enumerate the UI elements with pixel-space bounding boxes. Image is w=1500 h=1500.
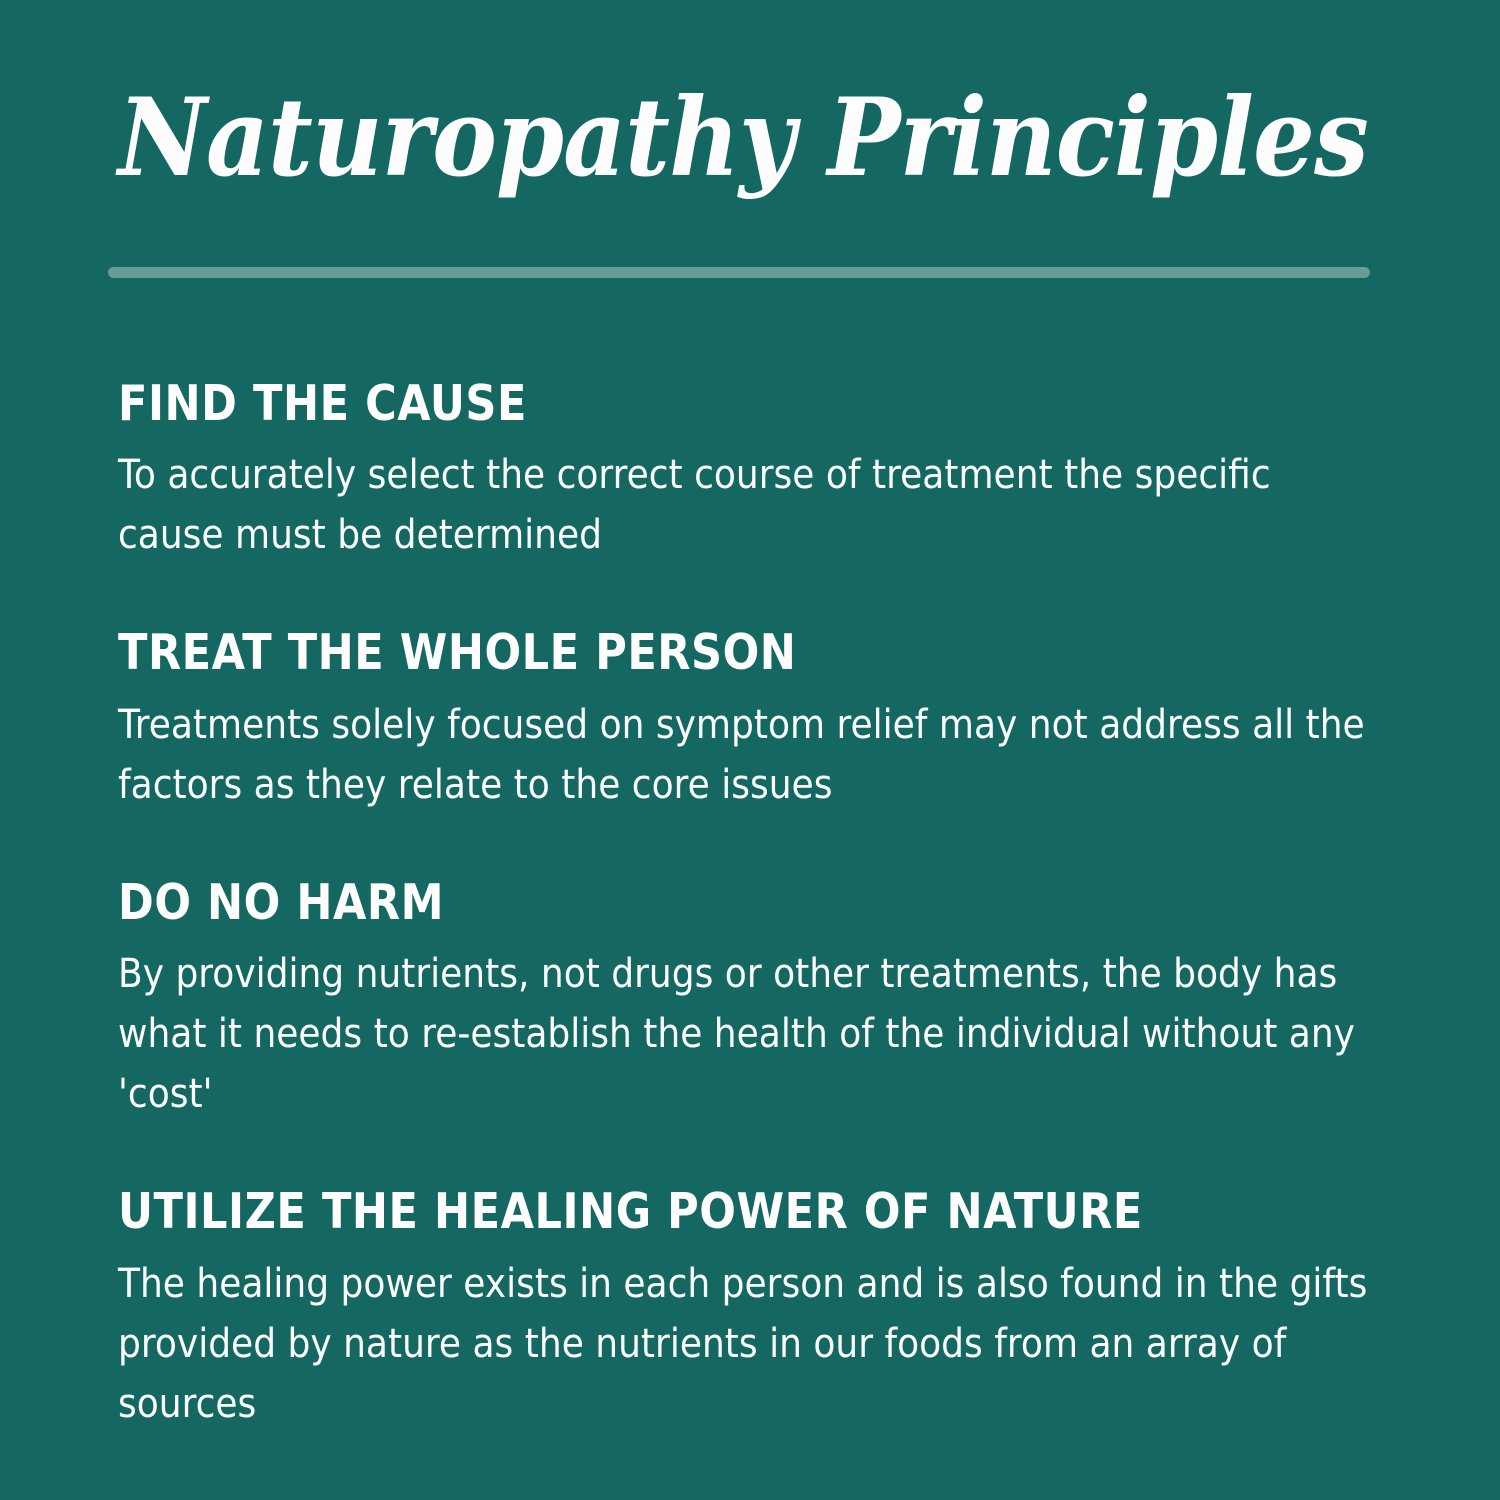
principle-item-find-the-cause: FIND THE CAUSE To accurately select the …: [118, 378, 1382, 565]
principle-description: By providing nutrients, not drugs or oth…: [118, 944, 1374, 1124]
principle-item-do-no-harm: DO NO HARM By providing nutrients, not d…: [118, 877, 1382, 1124]
principle-description: Treatments solely focused on symptom rel…: [118, 695, 1374, 815]
principles-list: FIND THE CAUSE To accurately select the …: [118, 378, 1382, 1434]
title-block: Naturopathy Principles: [118, 84, 1382, 192]
principle-description: To accurately select the correct course …: [118, 445, 1374, 565]
principle-heading: TREAT THE WHOLE PERSON: [118, 627, 1230, 678]
title-divider-rule: [108, 267, 1370, 278]
principle-description: The healing power exists in each person …: [118, 1254, 1374, 1434]
page-title: Naturopathy Principles: [118, 84, 1256, 192]
principle-heading: DO NO HARM: [118, 877, 1230, 928]
principle-heading: FIND THE CAUSE: [118, 378, 1230, 429]
naturopathy-principles-poster: Naturopathy Principles FIND THE CAUSE To…: [0, 0, 1500, 1500]
principle-heading: UTILIZE THE HEALING POWER OF NATURE: [118, 1186, 1230, 1237]
principle-item-utilize-the-healing-power-of-nature: UTILIZE THE HEALING POWER OF NATURE The …: [118, 1186, 1382, 1433]
principle-item-treat-the-whole-person: TREAT THE WHOLE PERSON Treatments solely…: [118, 627, 1382, 814]
